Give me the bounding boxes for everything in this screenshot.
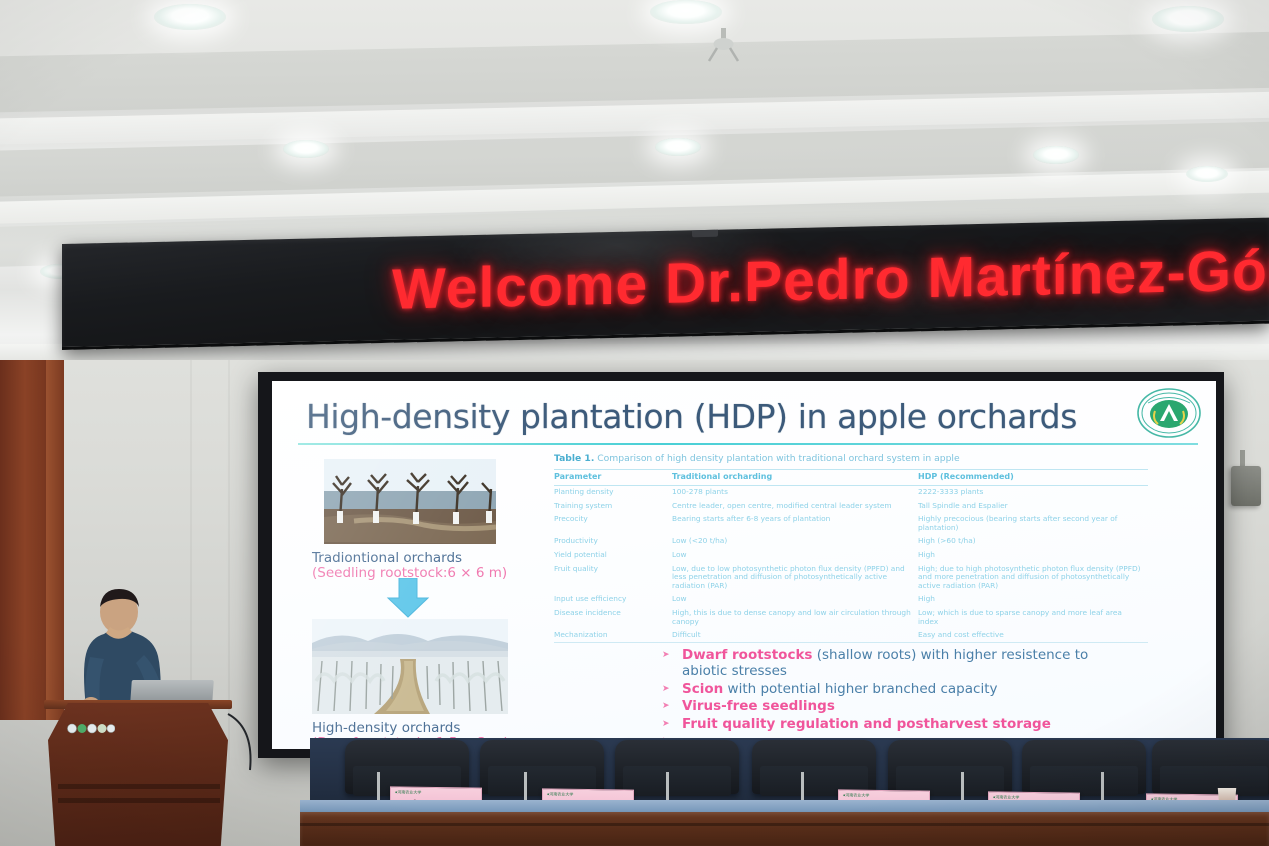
dais-chair: [1022, 740, 1146, 794]
conference-photo-scene: Welcome Dr.Pedro Martínez-Gómez High-den…: [0, 0, 1269, 846]
slide-title-rule: [298, 443, 1198, 445]
ceiling-downlight: [650, 0, 722, 24]
table-row: Fruit qualityLow, due to low photosynthe…: [554, 562, 1148, 593]
table-row: ProductivityLow (<20 t/ha)High (>60 t/ha…: [554, 535, 1148, 549]
university-seal-logo: [1136, 387, 1202, 439]
down-arrow: [386, 578, 430, 618]
bullet-blue: with potential higher branched capacity: [723, 681, 997, 697]
table-cell: Bearing starts after 6-8 years of planta…: [672, 513, 918, 535]
table-cell: Highly precocious (bearing starts after …: [918, 513, 1148, 535]
table-cell: Productivity: [554, 535, 672, 549]
podium-band: [58, 784, 220, 789]
table-cell: Low, due to low photosynthetic photon fl…: [672, 562, 918, 593]
bullet-item: Scion with potential higher branched cap…: [660, 681, 1120, 698]
table-row: Disease incidenceHigh, this is due to de…: [554, 607, 1148, 629]
ceiling-downlight: [1152, 6, 1224, 32]
table-cell: Input use efficiency: [554, 593, 672, 607]
comparison-table-block: Table 1. Comparison of high density plan…: [554, 453, 1148, 643]
table-cell: High: [918, 593, 1148, 607]
table-cell: Training system: [554, 499, 672, 513]
table-row: PrecocityBearing starts after 6-8 years …: [554, 513, 1148, 535]
table-cell: Mechanization: [554, 629, 672, 643]
bullet-pink: Dwarf rootstocks: [682, 647, 812, 663]
podium-emblem: [67, 723, 115, 734]
table-row: Planting density100-278 plants2222-3333 …: [554, 485, 1148, 499]
ceiling-microphone: [705, 28, 743, 62]
table-caption-label: Table 1.: [554, 453, 594, 464]
table-cell: Disease incidence: [554, 607, 672, 629]
table-cell: Tall Spindle and Espalier: [918, 499, 1148, 513]
nameplate-logo: ●河南农业大学: [395, 789, 421, 795]
bullet-pink: Fruit quality regulation and postharvest…: [682, 716, 1051, 732]
table-cell: Difficult: [672, 629, 918, 643]
ceiling-downlight: [154, 4, 226, 30]
bullet-pink: Scion: [682, 681, 723, 697]
table-cell: High: [918, 549, 1148, 563]
dais-chair: [615, 740, 739, 794]
ceiling-downlight: [1033, 146, 1079, 164]
bullet-pink: Virus-free seedlings: [682, 698, 835, 714]
high-density-orchard-photo: [312, 619, 508, 714]
slide-bullet-list: Dwarf rootstocks (shallow roots) with hi…: [620, 647, 1120, 750]
table-header-cell: HDP (Recommended): [918, 470, 1148, 486]
table-cell: High, this is due to dense canopy and lo…: [672, 607, 918, 629]
dais-chair: [752, 740, 876, 794]
dais-chair: [1152, 740, 1269, 794]
podium-band: [58, 798, 220, 803]
table-cell: Low; which is due to sparse canopy and m…: [918, 607, 1148, 629]
ceiling-downlight: [1186, 166, 1228, 182]
dais-chair: [480, 740, 604, 794]
bullet-item: Fruit quality regulation and postharvest…: [660, 716, 1120, 733]
table-row: Yield potentialLowHigh: [554, 549, 1148, 563]
table-cell: Fruit quality: [554, 562, 672, 593]
table-cell: Centre leader, open centre, modified cen…: [672, 499, 918, 513]
table-cell: Precocity: [554, 513, 672, 535]
caption-main: Tradiontional orchards: [312, 551, 507, 566]
table-row: Input use efficiencyLowHigh: [554, 593, 1148, 607]
bullet-item: Virus-free seedlings: [660, 698, 1120, 715]
bullet-item: Dwarf rootstocks (shallow roots) with hi…: [660, 647, 1120, 680]
wall-mounted-speaker: [1231, 466, 1261, 506]
table-cell: 2222-3333 plants: [918, 485, 1148, 499]
ceiling-downlight: [655, 138, 701, 156]
nameplate-logo: ●河南农业大学: [843, 792, 869, 798]
table-cell: Planting density: [554, 485, 672, 499]
table-cell: Low: [672, 593, 918, 607]
ceiling-downlight: [283, 140, 329, 158]
podium-cable: [226, 712, 266, 772]
dais-table-front: [300, 812, 1269, 846]
traditional-orchard-photo: [324, 459, 496, 544]
table-body: Planting density100-278 plants2222-3333 …: [554, 485, 1148, 643]
table-cell: 100-278 plants: [672, 485, 918, 499]
table-cell: High; due to high photosynthetic photon …: [918, 562, 1148, 593]
table-cell: Easy and cost effective: [918, 629, 1148, 643]
table-cell: Low (<20 t/ha): [672, 535, 918, 549]
projector-screen: High-density plantation (HDP) in apple o…: [272, 381, 1216, 749]
dais-chair: [888, 740, 1012, 794]
table-cell: Yield potential: [554, 549, 672, 563]
traditional-orchard-caption: Tradiontional orchards (Seedling rootsto…: [312, 551, 507, 581]
table-row: MechanizationDifficultEasy and cost effe…: [554, 629, 1148, 643]
table-header-row: Parameter Traditional orcharding HDP (Re…: [554, 470, 1148, 486]
comparison-table: Parameter Traditional orcharding HDP (Re…: [554, 469, 1148, 643]
table-header-cell: Parameter: [554, 470, 672, 486]
nameplate-logo: ●河南农业大学: [547, 791, 573, 797]
table-cell: High (>60 t/ha): [918, 535, 1148, 549]
slide-title: High-density plantation (HDP) in apple o…: [306, 397, 1136, 436]
table-header-cell: Traditional orcharding: [672, 470, 918, 486]
table-caption-text: Comparison of high density plantation wi…: [594, 453, 959, 464]
caption-main: High-density orchards: [312, 721, 509, 736]
table-row: Training systemCentre leader, open centr…: [554, 499, 1148, 513]
table-caption: Table 1. Comparison of high density plan…: [554, 453, 1148, 464]
table-cell: Low: [672, 549, 918, 563]
